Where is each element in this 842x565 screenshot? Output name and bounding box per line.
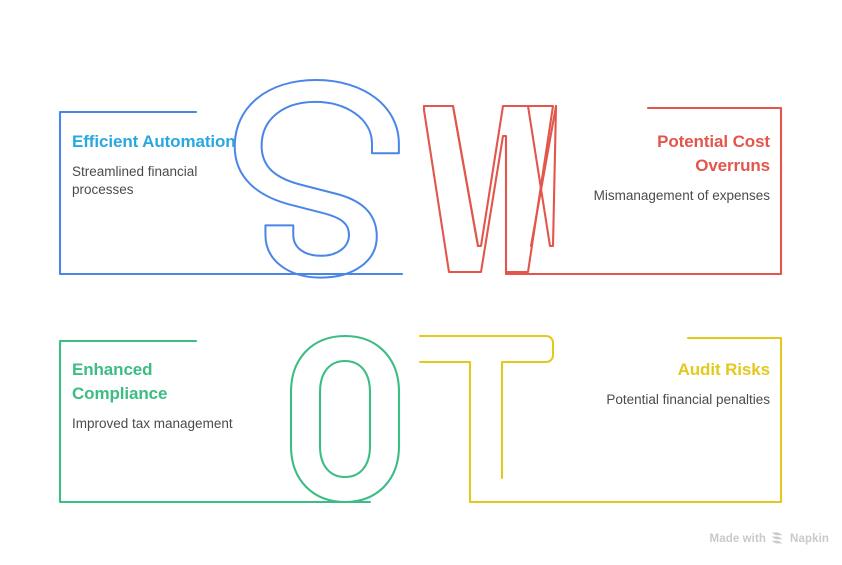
quadrant-body-opportunities: Improved tax management	[72, 415, 267, 433]
quadrant-text-weaknesses: Potential Cost Overruns Mismanagement of…	[545, 130, 770, 205]
quadrant-title-strengths: Efficient Automation	[72, 130, 267, 154]
swot-artwork-layer	[0, 0, 842, 565]
quadrant-body-strengths: Streamlined financial processes	[72, 163, 267, 199]
quadrant-title-weaknesses: Potential Cost Overruns	[545, 130, 770, 178]
quadrant-text-opportunities: Enhanced Compliance Improved tax managem…	[72, 358, 267, 433]
quadrant-text-strengths: Efficient Automation Streamlined financi…	[72, 130, 267, 199]
quadrant-body-threats: Potential financial penalties	[545, 391, 770, 409]
swot-diagram-canvas: Efficient Automation Streamlined financi…	[0, 0, 842, 565]
napkin-watermark: Made with Napkin	[710, 532, 829, 545]
quadrant-title-threats: Audit Risks	[545, 358, 770, 382]
quadrant-text-threats: Audit Risks Potential financial penaltie…	[545, 358, 770, 409]
quadrant-body-weaknesses: Mismanagement of expenses	[545, 187, 770, 205]
letter-w-outline	[424, 106, 556, 274]
letter-t-outline	[420, 336, 553, 502]
napkin-chevron-logo-icon	[771, 532, 785, 545]
watermark-made-with-label: Made with	[710, 533, 767, 545]
watermark-brand-label: Napkin	[790, 533, 829, 545]
quadrant-title-opportunities: Enhanced Compliance	[72, 358, 267, 406]
letter-o-outline	[291, 336, 399, 502]
